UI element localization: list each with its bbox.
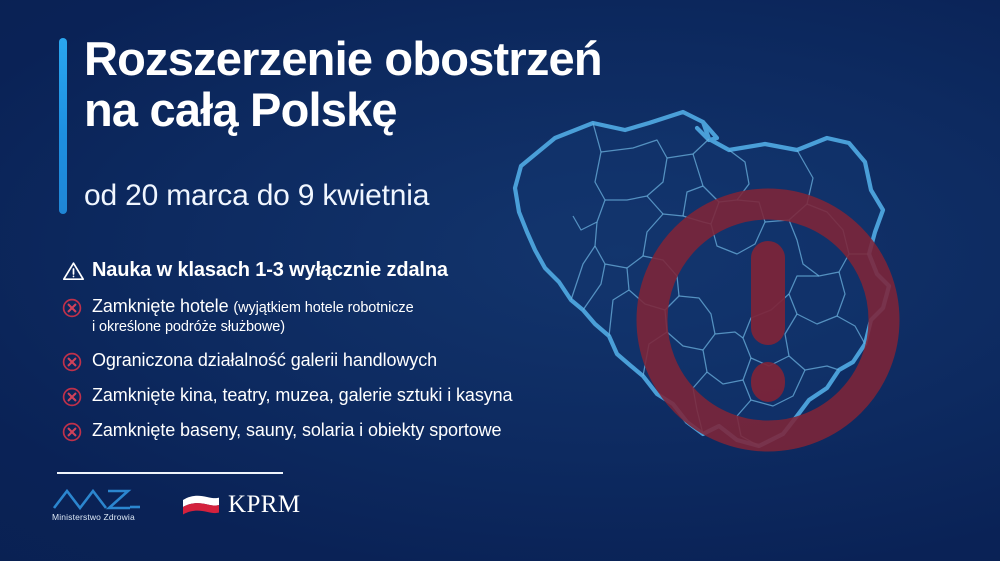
footer-divider: [57, 472, 283, 474]
content-column: Rozszerzenie obostrzeń na całą Polskę od…: [0, 0, 560, 561]
list-item-label: Zamknięte kina, teatry, muzea, galerie s…: [92, 384, 562, 407]
circle-x-icon: [62, 419, 92, 443]
circle-x-icon: [62, 349, 92, 373]
page-subtitle: od 20 marca do 9 kwietnia: [84, 178, 554, 213]
list-item: Zamknięte kina, teatry, muzea, galerie s…: [62, 384, 562, 408]
mz-zigzag-icon: [52, 487, 144, 511]
polish-flag-icon: [181, 494, 221, 516]
page-title-line-1: Rozszerzenie obostrzeń: [84, 33, 554, 84]
list-item: Zamknięte baseny, sauny, solaria i obiek…: [62, 419, 562, 443]
list-item-note-line2: i określone podróże służbowe): [92, 318, 562, 337]
page-title-line-2: na całą Polskę: [84, 84, 554, 135]
list-item: Ograniczona działalność galerii handlowy…: [62, 349, 562, 373]
restrictions-list: Nauka w klasach 1-3 wyłącznie zdalna Zam…: [62, 258, 562, 454]
circle-x-icon: [62, 295, 92, 319]
footer-logos: Ministerstwo Zdrowia KPRM: [48, 487, 468, 537]
accent-bar: [59, 38, 67, 214]
ministry-of-health-logo: Ministerstwo Zdrowia: [52, 487, 162, 531]
list-item-label: Zamknięte hotele (wyjątkiem hotele robot…: [92, 295, 562, 338]
list-item-lead: Nauka w klasach 1-3 wyłącznie zdalna: [62, 258, 562, 283]
list-item-label: Ograniczona działalność galerii handlowy…: [92, 349, 562, 372]
kprm-logo: KPRM: [181, 492, 300, 517]
ministry-logo-caption: Ministerstwo Zdrowia: [52, 512, 162, 522]
list-item: Zamknięte hotele (wyjątkiem hotele robot…: [62, 295, 562, 338]
poster-root: Rozszerzenie obostrzeń na całą Polskę od…: [0, 0, 1000, 561]
circle-x-icon: [62, 384, 92, 408]
page-title: Rozszerzenie obostrzeń na całą Polskę: [84, 33, 554, 135]
list-item-note: (wyjątkiem hotele robotnicze: [233, 300, 413, 316]
alert-overlay-graphic: [634, 186, 902, 454]
kprm-label: KPRM: [228, 492, 300, 517]
warning-triangle-icon: [62, 258, 92, 282]
list-item-main-text: Zamknięte hotele: [92, 296, 233, 316]
list-item-lead-label: Nauka w klasach 1-3 wyłącznie zdalna: [92, 258, 562, 283]
list-item-label: Zamknięte baseny, sauny, solaria i obiek…: [92, 419, 562, 442]
